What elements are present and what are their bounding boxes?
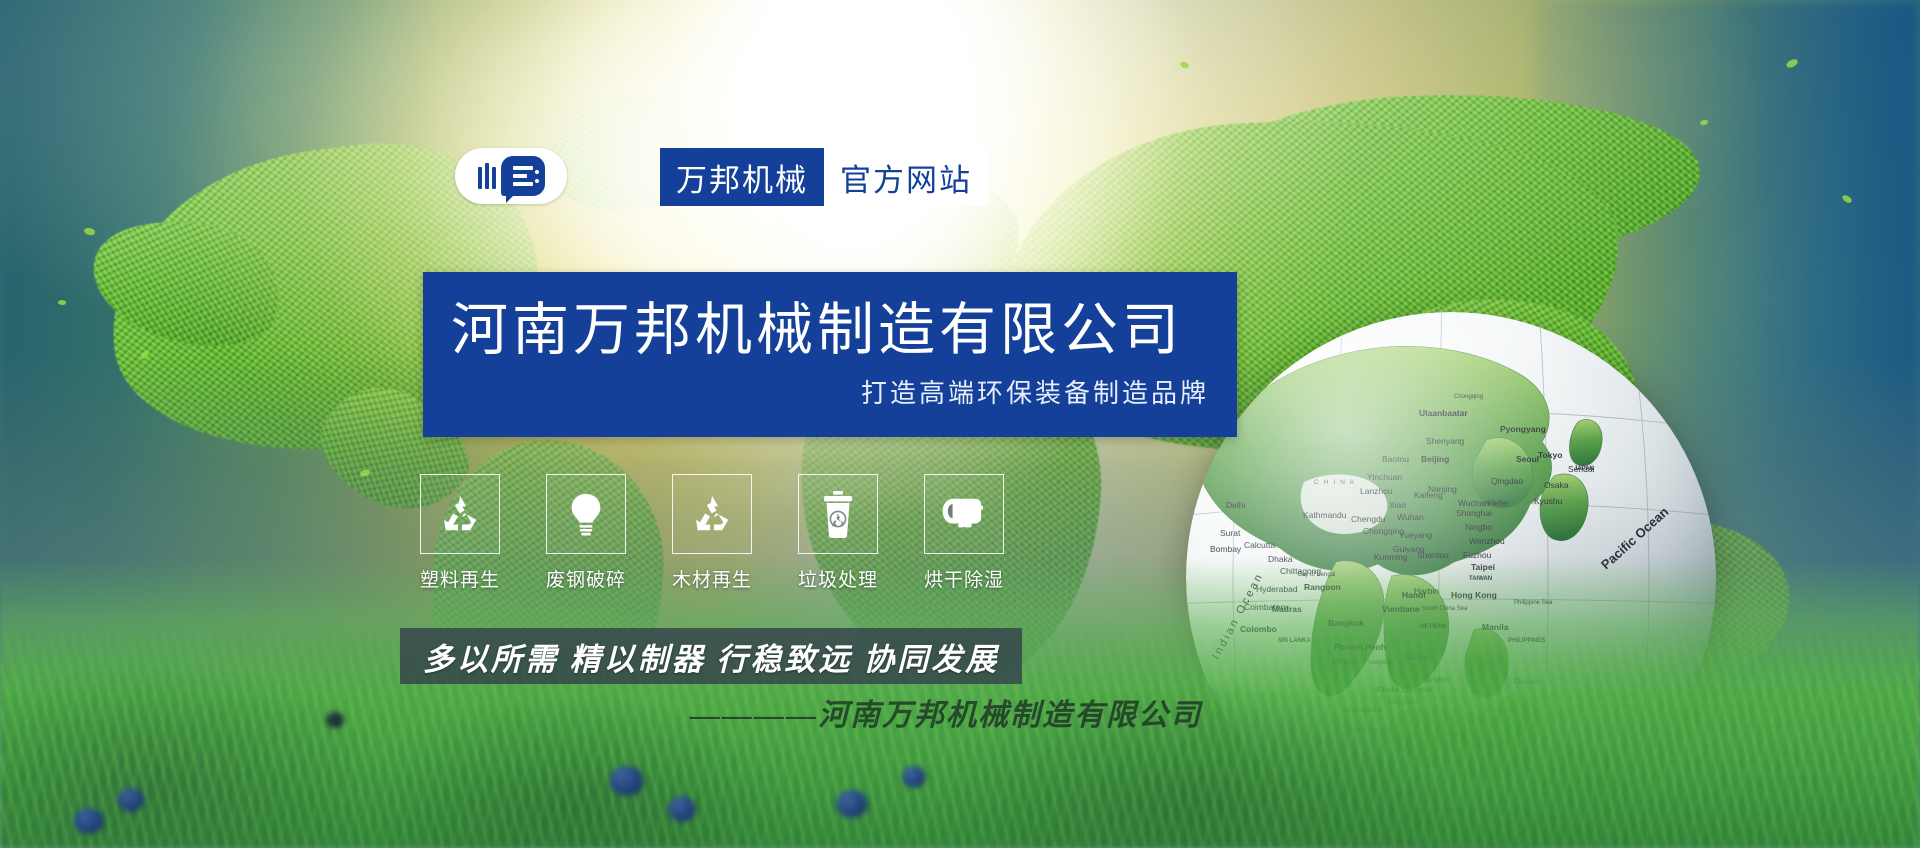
berry [610,766,644,796]
service-label: 塑料再生 [420,565,500,592]
service-label: 烘干除湿 [924,565,1004,592]
logo-name-label[interactable]: 万邦机械 [660,148,824,206]
slogan-attribution: ————河南万邦机械制造有限公司 [690,690,1202,734]
svg-text:Hefei: Hefei [1488,498,1508,508]
svg-text:Delhi: Delhi [1226,500,1245,510]
svg-text:Baotou: Baotou [1382,454,1409,464]
wb-logo-icon[interactable] [455,148,567,204]
logo-site-label[interactable]: 官方网站 [824,148,988,206]
svg-text:Kyushu: Kyushu [1534,496,1563,506]
svg-text:Ningbo: Ningbo [1465,522,1492,532]
svg-text:Shenyang: Shenyang [1426,436,1465,446]
service-item-steel-crushing[interactable]: 废钢破碎 [546,474,626,592]
svg-text:Osaka: Osaka [1544,480,1569,490]
service-label: 木材再生 [672,565,752,592]
svg-text:Calcutta: Calcutta [1244,540,1275,550]
service-item-waste-treatment[interactable]: 垃圾处理 [798,474,878,592]
berry [668,796,696,822]
main-banner: 河南万邦机械制造有限公司 打造高端环保装备制造品牌 [423,272,1237,437]
berry [74,808,104,834]
svg-text:Chongqing: Chongqing [1454,394,1483,400]
svg-text:Kathmandu: Kathmandu [1303,510,1347,520]
svg-text:Tokyo: Tokyo [1538,450,1562,460]
service-label: 垃圾处理 [798,565,878,592]
svg-text:Bombay: Bombay [1210,544,1242,554]
page-title: 河南万邦机械制造有限公司 [423,299,1237,363]
logo-w-icon [478,163,496,189]
banner-subtitle: 打造高端环保装备制造品牌 [423,373,1237,410]
logo-b-lines-icon [513,166,533,186]
dryer-drum-icon [924,474,1004,554]
svg-text:Beijing: Beijing [1421,454,1449,464]
svg-text:Surat: Surat [1220,528,1241,538]
logo-bar[interactable]: 万邦机械 官方网站 [455,148,988,206]
slogan-bar: 多以所需 精以制器 行稳致远 协同发展 [400,628,1022,684]
svg-text:C H I N A: C H I N A [1314,479,1356,486]
svg-text:Xian: Xian [1389,500,1406,510]
berry [902,766,926,788]
recycle-icon [420,474,500,554]
recycle-icon [672,474,752,554]
berry [326,712,344,728]
berry [118,788,144,812]
banner-stage: Ulaanbaatar Beijing Baotou Yinchuan Lanz… [0,0,1920,848]
lightbulb-icon [546,474,626,554]
svg-text:Wuchan: Wuchan [1458,498,1489,508]
svg-text:Ulaanbaatar: Ulaanbaatar [1419,408,1468,418]
service-item-wood-recycling[interactable]: 木材再生 [672,474,752,592]
svg-text:Qingdao: Qingdao [1491,476,1523,486]
svg-text:Seoul: Seoul [1516,454,1539,464]
svg-text:Yueyang: Yueyang [1399,530,1432,540]
trash-bin-icon [798,474,878,554]
logo-b-bubble-icon [501,156,545,196]
service-icon-row: 塑料再生 废钢破碎 木材再生 [420,474,1004,592]
svg-text:Yinchuan: Yinchuan [1367,472,1402,482]
slogan-text: 多以所需 精以制器 行稳致远 协同发展 [423,634,999,679]
service-label: 废钢破碎 [546,565,626,592]
service-item-plastic-recycling[interactable]: 塑料再生 [420,474,500,592]
berry [836,790,868,818]
svg-text:Lanzhou: Lanzhou [1360,486,1393,496]
svg-text:JAPAN: JAPAN [1574,466,1594,472]
svg-text:Nanjing: Nanjing [1428,484,1457,494]
svg-text:Wuhan: Wuhan [1397,512,1424,522]
logo-b-dots-icon [535,170,539,183]
svg-text:Shanghai: Shanghai [1456,508,1492,518]
svg-text:Pyongyang: Pyongyang [1500,424,1546,434]
svg-text:Wenzhou: Wenzhou [1469,536,1505,546]
svg-text:Chengdu: Chengdu [1351,514,1386,524]
service-item-drying-dehumidify[interactable]: 烘干除湿 [924,474,1004,592]
